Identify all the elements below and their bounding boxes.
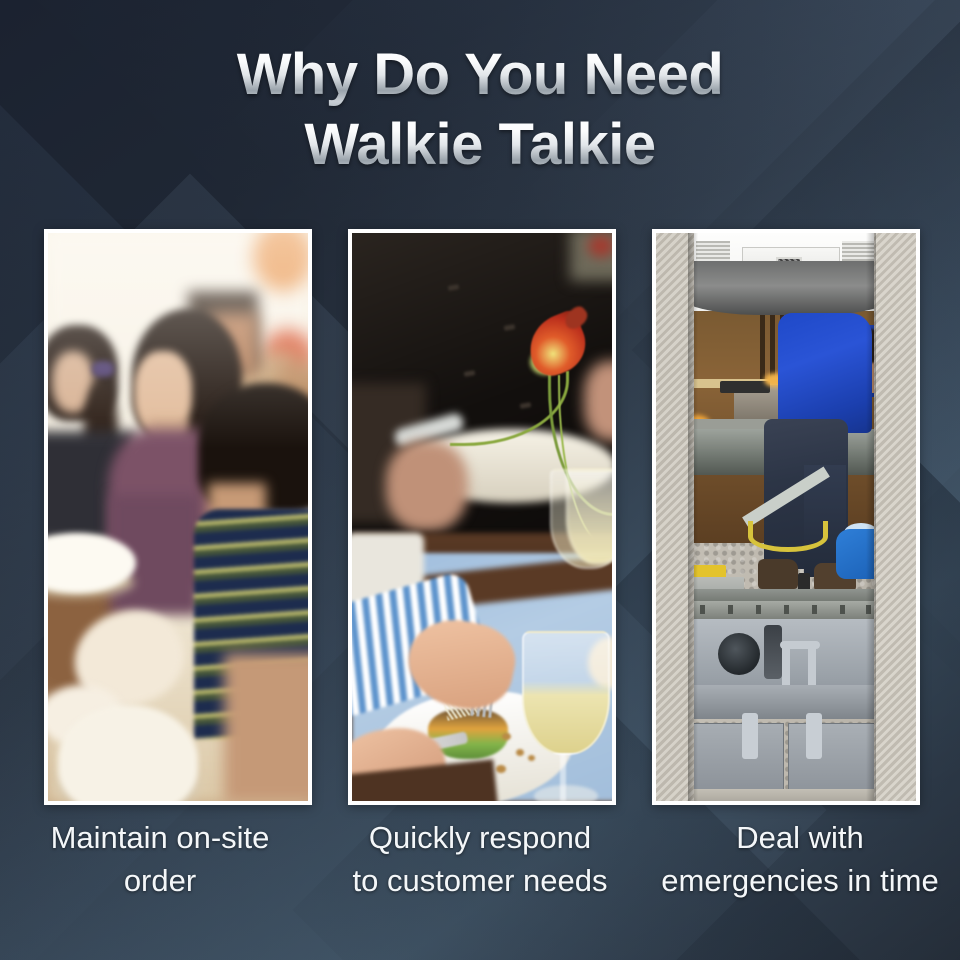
photo-panel-row <box>44 229 920 805</box>
caption-2-line-2: to customer needs <box>320 859 640 902</box>
caption-2-line-1: Quickly respond <box>320 816 640 859</box>
caption-restaurant-crowd: Maintain on-site order <box>0 816 320 902</box>
photo-elevator-maintenance <box>656 233 916 801</box>
page-title: Why Do You Need Walkie Talkie <box>0 40 960 180</box>
caption-row: Maintain on-site order Quickly respond t… <box>0 816 960 902</box>
poster-canvas: Why Do You Need Walkie Talkie <box>0 0 960 960</box>
caption-3-line-2: emergencies in time <box>640 859 960 902</box>
caption-fine-dining: Quickly respond to customer needs <box>320 816 640 902</box>
caption-elevator-maintenance: Deal with emergencies in time <box>640 816 960 902</box>
photo-panel-fine-dining <box>348 229 616 805</box>
caption-1-line-2: order <box>0 859 320 902</box>
title-line-2: Walkie Talkie <box>0 110 960 180</box>
photo-fine-dining <box>352 233 612 801</box>
title-line-1: Why Do You Need <box>0 40 960 110</box>
caption-3-line-1: Deal with <box>640 816 960 859</box>
caption-1-line-1: Maintain on-site <box>0 816 320 859</box>
photo-restaurant-crowd <box>48 233 308 801</box>
photo-panel-elevator-maintenance <box>652 229 920 805</box>
photo-panel-restaurant-crowd <box>44 229 312 805</box>
